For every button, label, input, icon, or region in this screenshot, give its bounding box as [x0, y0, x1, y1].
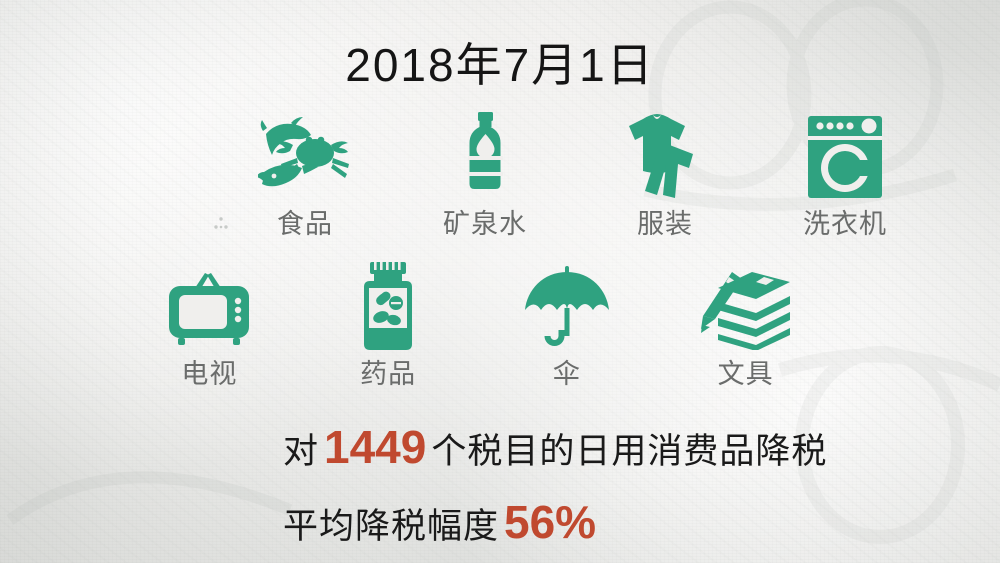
category-label: 伞	[553, 361, 581, 388]
statement-highlight-56pct: 56%	[499, 496, 601, 548]
category-label: 食品	[277, 211, 333, 238]
category-label: 洗衣机	[803, 211, 887, 238]
water-bottle-icon	[456, 112, 514, 200]
category-item-food[interactable]: 食品	[215, 112, 395, 238]
category-item-television[interactable]: 电视	[120, 262, 299, 388]
category-item-washing-machine[interactable]: 洗衣机	[755, 112, 935, 238]
statement-suffix: 个税目的日用消费品降税	[431, 432, 827, 471]
category-item-mineral-water[interactable]: 矿泉水	[395, 112, 575, 238]
statement-average-cut: 平均降税幅度56%	[283, 485, 827, 560]
category-item-umbrella[interactable]: 伞	[478, 262, 657, 388]
category-label: 服装	[637, 211, 693, 238]
stationery-icon	[698, 262, 794, 350]
statement-highlight-1449: 1449	[319, 421, 431, 473]
pill-bottle-icon	[356, 262, 420, 350]
watermark-blob-left	[0, 400, 300, 563]
category-label: 药品	[360, 361, 416, 388]
category-label: 矿泉水	[443, 211, 527, 238]
category-item-clothing[interactable]: 服装	[575, 112, 755, 238]
category-item-medicine[interactable]: 药品	[299, 262, 478, 388]
washing-machine-icon	[804, 112, 886, 200]
clothing-icon	[623, 112, 707, 200]
page-title: 2018年7月1日	[0, 42, 1000, 88]
statement-prefix: 对	[283, 432, 319, 471]
category-label: 电视	[181, 361, 237, 388]
summary-statements: 对1449个税目的日用消费品降税 平均降税幅度56%	[283, 410, 827, 559]
category-row-1: 食品	[215, 112, 935, 238]
statement-tariff-items: 对1449个税目的日用消费品降税	[283, 410, 827, 485]
category-item-stationery[interactable]: 文具	[656, 262, 835, 388]
category-label: 文具	[718, 361, 774, 388]
statement-prefix: 平均降税幅度	[283, 507, 499, 546]
television-icon	[165, 262, 253, 350]
seafood-icon	[258, 112, 352, 200]
umbrella-icon	[523, 262, 611, 350]
category-row-2: 电视	[120, 262, 835, 388]
tariff-cut-poster: 2018年7月1日	[0, 0, 1000, 563]
